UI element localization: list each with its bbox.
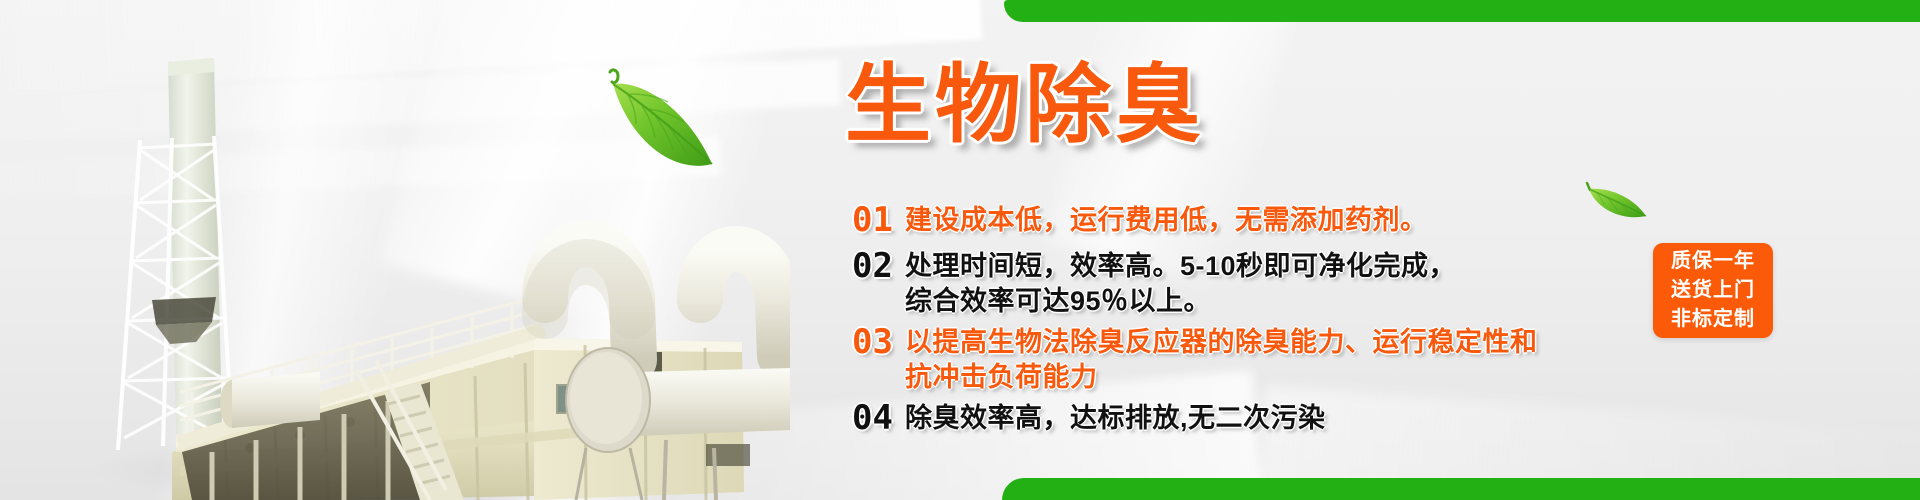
feature-line: 处理时间短，效率高。5-10秒即可净化完成， [905,251,1456,281]
list-item: 03 以提高生物法除臭反应器的除臭能力、运行稳定性和 抗冲击负荷能力 [852,322,1672,394]
promo-badge-line: 送货上门 [1671,277,1755,304]
list-item: 04 除臭效率高，达标排放,无二次污染 [852,398,1672,438]
feature-line: 除臭效率高，达标排放,无二次污染 [905,403,1326,433]
feature-number: 02 [852,246,893,286]
feature-text: 以提高生物法除臭反应器的除臭能力、运行稳定性和 抗冲击负荷能力 [905,322,1538,394]
feature-number: 01 [852,200,893,240]
green-accent-bar-bottom [1002,478,1920,500]
leaf-large-icon [596,58,726,188]
feature-text: 处理时间短，效率高。5-10秒即可净化完成， 综合效率可达95％以上。 [905,246,1456,318]
green-accent-bar-top [1004,0,1920,22]
promo-badge-line: 非标定制 [1671,306,1755,333]
feature-text: 除臭效率高，达标排放,无二次污染 [905,398,1326,436]
feature-line: 综合效率可达95％以上。 [905,284,1456,319]
feature-text: 建设成本低，运行费用低，无需添加药剂。 [905,200,1428,238]
promo-badge[interactable]: 质保一年 送货上门 非标定制 [1653,243,1773,338]
feature-number: 03 [852,322,893,362]
promo-banner: 生物除臭 01 建设成本低，运行费用低，无需添加药剂。 02 处理时间短，效率高… [0,0,1920,500]
feature-line: 抗冲击负荷能力 [905,360,1538,395]
list-item: 02 处理时间短，效率高。5-10秒即可净化完成， 综合效率可达95％以上。 [852,246,1672,318]
page-title: 生物除臭 [845,62,1205,148]
promo-badge-line: 质保一年 [1671,248,1755,275]
feature-line: 建设成本低，运行费用低，无需添加药剂。 [905,205,1428,235]
feature-line: 以提高生物法除臭反应器的除臭能力、运行稳定性和 [905,327,1538,357]
feature-number: 04 [852,398,893,438]
list-item: 01 建设成本低，运行费用低，无需添加药剂。 [852,200,1672,240]
feature-list: 01 建设成本低，运行费用低，无需添加药剂。 02 处理时间短，效率高。5-10… [852,200,1672,442]
